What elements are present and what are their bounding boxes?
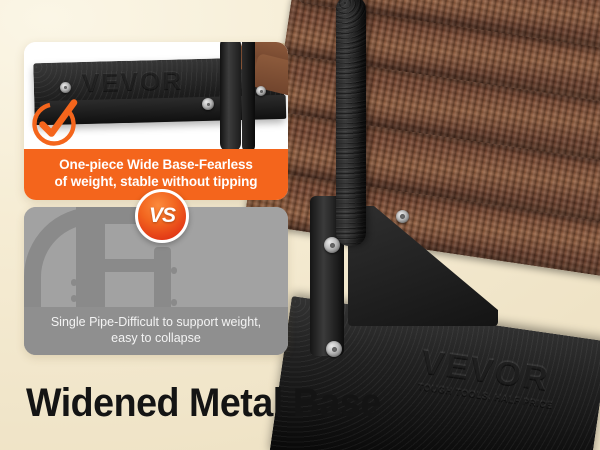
upright-pole xyxy=(336,0,366,246)
check-circle-icon xyxy=(29,97,81,149)
bad-caption-line1: Single Pipe-Difficult to support weight, xyxy=(32,314,280,330)
bolt-icon xyxy=(256,86,266,96)
pipe-nub xyxy=(171,299,177,306)
bolt-icon xyxy=(202,98,214,110)
good-brand-emboss: VEVOR xyxy=(82,65,184,99)
page-title: Widened Metal Base xyxy=(26,381,381,426)
product-marketing-image: VEVOR TOUGH TOOLS, HALF PRICE VEVOR One-… xyxy=(0,0,600,450)
good-banner-line1: One-piece Wide Base-Fearless xyxy=(34,156,278,173)
pipe-nub xyxy=(71,279,77,286)
pipe-nub xyxy=(171,267,177,274)
upright-pole xyxy=(220,42,241,149)
bad-caption-line2: easy to collapse xyxy=(32,330,280,346)
vs-badge: VS xyxy=(135,189,189,243)
bolt-icon xyxy=(324,237,340,253)
cross-bar xyxy=(84,259,166,272)
upright-pole xyxy=(242,42,255,149)
bolt-icon xyxy=(396,210,409,223)
bad-caption: Single Pipe-Difficult to support weight,… xyxy=(24,307,288,356)
bolt-icon xyxy=(60,82,71,93)
bolt-icon xyxy=(326,341,342,357)
good-banner-line2: of weight, stable without tipping xyxy=(34,173,278,190)
pipe-nub xyxy=(71,295,77,302)
